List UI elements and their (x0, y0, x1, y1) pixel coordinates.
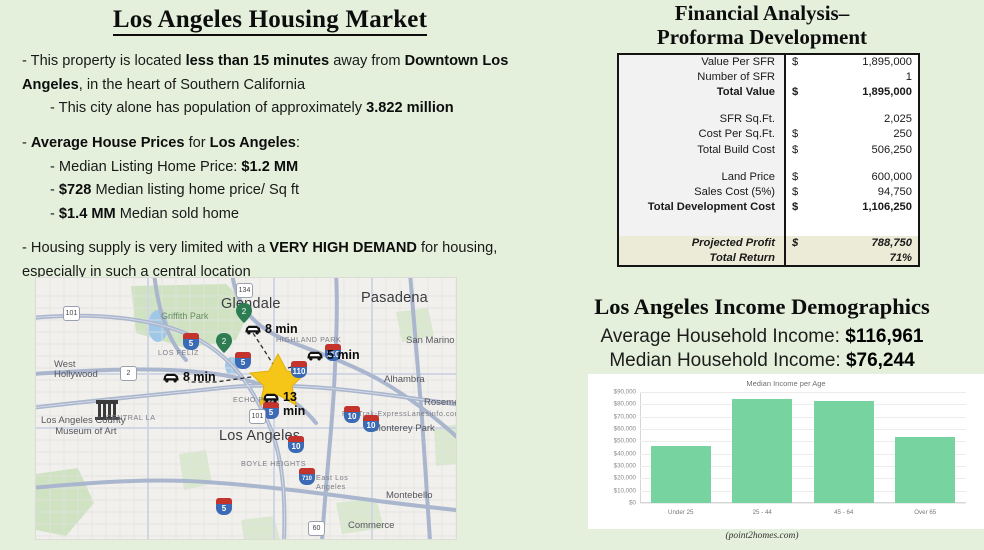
row-label: Total Build Cost (618, 142, 785, 157)
y-tick-label: $60,000 (614, 425, 636, 432)
bar (651, 446, 711, 503)
row-value: 1,106,250 (807, 200, 919, 215)
chart-title: Median Income per Age (588, 379, 984, 388)
y-tick-label: $80,000 (614, 401, 636, 408)
bar (732, 399, 792, 503)
bar-group: Under 25 (645, 392, 717, 503)
table-spacer-row (618, 157, 919, 169)
map-pin-2-a[interactable]: 2 (236, 303, 251, 322)
row-value: 2,025 (807, 112, 919, 127)
drive-time-5min: 5 min (306, 348, 360, 362)
bar (895, 437, 955, 503)
bar (814, 401, 874, 503)
median-household-income: Median Household Income: $76,244 (540, 350, 984, 372)
y-tick-label: $40,000 (614, 450, 636, 457)
row-currency: $ (785, 127, 807, 142)
table-row: Sales Cost (5%) $ 94,750 (618, 184, 919, 199)
y-tick-label: $10,000 (614, 487, 636, 494)
left-column: Los Angeles Housing Market - This proper… (0, 0, 540, 550)
housing-market-bullets: - This property is located less than 15 … (22, 50, 524, 285)
gridline (640, 503, 966, 504)
row-value: 788,750 (807, 236, 919, 251)
row-currency: $ (785, 169, 807, 184)
bullet-median-sold-home: - $1.4 MM Median sold home (22, 203, 524, 227)
row-currency (785, 251, 807, 266)
table-row: Cost Per Sq.Ft. $ 250 (618, 127, 919, 142)
row-value: 1,895,000 (807, 54, 919, 69)
row-value: 1 (807, 69, 919, 84)
row-currency: $ (785, 54, 807, 69)
highway-ca134: 134 (236, 283, 253, 298)
median-household-income-value: $76,244 (846, 350, 915, 371)
row-label: Projected Profit (618, 236, 785, 251)
highway-ca60: 60 (308, 521, 325, 536)
page-title-text: Los Angeles Housing Market (113, 6, 427, 36)
chart-bars: Under 2525 - 4445 - 64Over 65 (640, 392, 966, 503)
highway-i710: 710 (299, 468, 315, 485)
y-tick-label: $0 (629, 500, 636, 507)
row-currency: $ (785, 84, 807, 99)
table-row: Land Price $ 600,000 (618, 169, 919, 184)
row-label: Total Return (618, 251, 785, 266)
row-currency (785, 69, 807, 84)
row-value: 250 (807, 127, 919, 142)
table-row: Total Value $ 1,895,000 (618, 84, 919, 99)
row-value: 600,000 (807, 169, 919, 184)
los-angeles-map[interactable]: Glendale Pasadena Los Angeles San Marino… (35, 277, 457, 540)
table-row: Value Per SFR $ 1,895,000 (618, 54, 919, 69)
y-tick-label: $70,000 (614, 413, 636, 420)
chart-plot-area: $90,000$80,000$70,000$60,000$50,000$40,0… (640, 392, 966, 503)
row-value: 506,250 (807, 142, 919, 157)
drive-time-8min-west: 8 min (162, 370, 216, 384)
y-tick-label: $20,000 (614, 475, 636, 482)
bar-group: 25 - 44 (726, 392, 798, 503)
row-label: Total Value (618, 84, 785, 99)
chart-source-attribution: (point2homes.com) (540, 531, 984, 541)
car-icon (244, 324, 262, 335)
row-value: 94,750 (807, 184, 919, 199)
bullet-population: - This city alone has population of appr… (22, 97, 524, 121)
average-household-income: Average Household Income: $116,961 (540, 326, 984, 348)
page-title: Los Angeles Housing Market (0, 6, 540, 34)
drive-time-13min: 13 min (262, 390, 305, 419)
highway-i5-a: 5 (183, 333, 199, 350)
row-label: Number of SFR (618, 69, 785, 84)
map-pin-2-b[interactable]: 2 (216, 333, 231, 352)
bullet-median-listing-price: - Median Listing Home Price: $1.2 MM (22, 156, 524, 180)
x-tick-label: 45 - 64 (808, 509, 880, 516)
table-row-projected-profit: Projected Profit $ 788,750 (618, 236, 919, 251)
row-value: 1,895,000 (807, 84, 919, 99)
bar-group: Over 65 (889, 392, 961, 503)
car-icon (162, 372, 180, 383)
financial-analysis-title-line2: Proforma Development (540, 26, 984, 50)
highway-ca2: 2 (120, 366, 137, 381)
table-spacer-row (618, 215, 919, 236)
row-value: 71% (807, 251, 919, 266)
bullet-price-per-sqft: - $728 Median listing home price/ Sq ft (22, 179, 524, 203)
table-row: Total Development Cost $ 1,106,250 (618, 200, 919, 215)
y-tick-label: $30,000 (614, 462, 636, 469)
bullet-avg-prices-heading: - Average House Prices for Los Angeles: (22, 132, 524, 156)
table-row: Number of SFR 1 (618, 69, 919, 84)
row-currency: $ (785, 200, 807, 215)
highway-i10-a: 10 (344, 406, 360, 423)
row-label: Total Development Cost (618, 200, 785, 215)
car-icon (262, 392, 280, 403)
proforma-table: Value Per SFR $ 1,895,000 Number of SFR … (617, 53, 920, 267)
median-household-income-label: Median Household Income: (609, 350, 846, 371)
row-label: SFR Sq.Ft. (618, 112, 785, 127)
row-currency: $ (785, 184, 807, 199)
financial-analysis-title: Financial Analysis– Proforma Development (540, 2, 984, 50)
bar-group: 45 - 64 (808, 392, 880, 503)
svg-text:2: 2 (222, 337, 227, 346)
highway-us101-b: 101 (63, 306, 80, 321)
row-currency (785, 112, 807, 127)
drive-time-8min-north: 8 min (244, 322, 298, 336)
highway-i110-b: 110 (291, 361, 307, 378)
row-currency: $ (785, 142, 807, 157)
car-icon (306, 350, 324, 361)
table-spacer-row (618, 100, 919, 112)
average-household-income-label: Average Household Income: (601, 326, 846, 347)
bullet-location: - This property is located less than 15 … (22, 50, 524, 97)
x-tick-label: Over 65 (889, 509, 961, 516)
income-demographics-title: Los Angeles Income Demographics (540, 294, 984, 320)
table-row: SFR Sq.Ft. 2,025 (618, 112, 919, 127)
average-household-income-value: $116,961 (845, 326, 923, 347)
x-tick-label: Under 25 (645, 509, 717, 516)
highway-i5-d: 5 (216, 498, 232, 515)
row-label: Value Per SFR (618, 54, 785, 69)
row-currency: $ (785, 236, 807, 251)
slide-root: Los Angeles Housing Market - This proper… (0, 0, 984, 550)
x-tick-label: 25 - 44 (726, 509, 798, 516)
y-tick-label: $90,000 (614, 389, 636, 396)
highway-i5-b: 5 (235, 352, 251, 369)
svg-text:2: 2 (242, 307, 247, 316)
right-column: Financial Analysis– Proforma Development… (540, 0, 984, 550)
y-tick-label: $50,000 (614, 438, 636, 445)
row-label: Sales Cost (5%) (618, 184, 785, 199)
row-label: Land Price (618, 169, 785, 184)
row-label: Cost Per Sq.Ft. (618, 127, 785, 142)
financial-analysis-title-line1: Financial Analysis– (540, 2, 984, 26)
highway-i10-c: 10 (288, 436, 304, 453)
table-row-total-return: Total Return 71% (618, 251, 919, 266)
table-row: Total Build Cost $ 506,250 (618, 142, 919, 157)
highway-i10-b: 10 (363, 415, 379, 432)
median-income-chart: Median Income per Age $90,000$80,000$70,… (588, 374, 984, 529)
